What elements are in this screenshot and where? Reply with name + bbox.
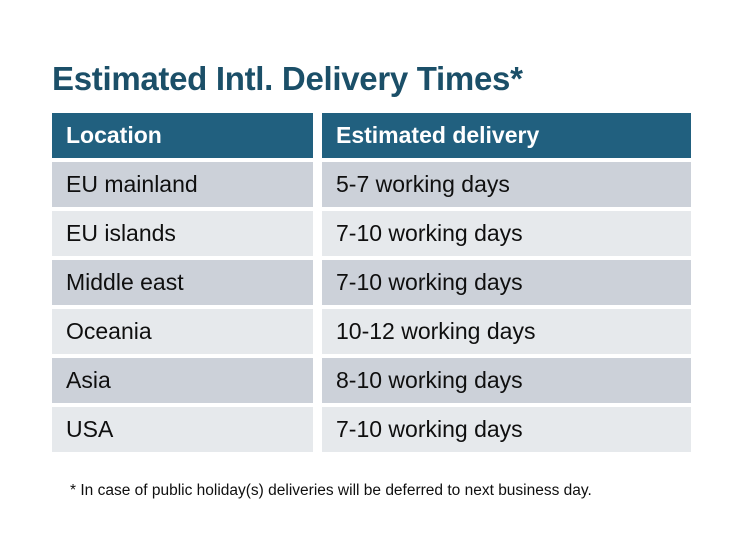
cell-estimated-delivery: 7-10 working days: [322, 407, 691, 452]
cell-estimated-delivery: 5-7 working days: [322, 162, 691, 207]
column-gutter: [313, 211, 322, 256]
cell-estimated-delivery: 10-12 working days: [322, 309, 691, 354]
cell-location: Middle east: [52, 260, 313, 305]
table-row: Oceania 10-12 working days: [52, 309, 691, 354]
table-row: Asia 8-10 working days: [52, 358, 691, 403]
column-gutter: [313, 260, 322, 305]
cell-estimated-delivery: 7-10 working days: [322, 211, 691, 256]
delivery-times-page: Estimated Intl. Delivery Times* Location…: [0, 0, 745, 536]
column-header-location: Location: [52, 113, 313, 158]
table-row: Middle east 7-10 working days: [52, 260, 691, 305]
cell-location: Oceania: [52, 309, 313, 354]
column-gutter: [313, 358, 322, 403]
cell-estimated-delivery: 8-10 working days: [322, 358, 691, 403]
column-gutter: [313, 407, 322, 452]
table-row: EU mainland 5-7 working days: [52, 162, 691, 207]
cell-location: EU mainland: [52, 162, 313, 207]
column-header-estimated-delivery: Estimated delivery: [322, 113, 691, 158]
cell-estimated-delivery: 7-10 working days: [322, 260, 691, 305]
column-gutter: [313, 309, 322, 354]
table-header-row: Location Estimated delivery: [52, 113, 691, 158]
table-row: EU islands 7-10 working days: [52, 211, 691, 256]
cell-location: Asia: [52, 358, 313, 403]
column-gutter: [313, 162, 322, 207]
table-row: USA 7-10 working days: [52, 407, 691, 452]
page-title: Estimated Intl. Delivery Times*: [52, 58, 523, 100]
cell-location: USA: [52, 407, 313, 452]
footnote: * In case of public holiday(s) deliverie…: [70, 480, 592, 502]
cell-location: EU islands: [52, 211, 313, 256]
delivery-times-table: Location Estimated delivery EU mainland …: [52, 113, 691, 452]
column-gutter: [313, 113, 322, 158]
